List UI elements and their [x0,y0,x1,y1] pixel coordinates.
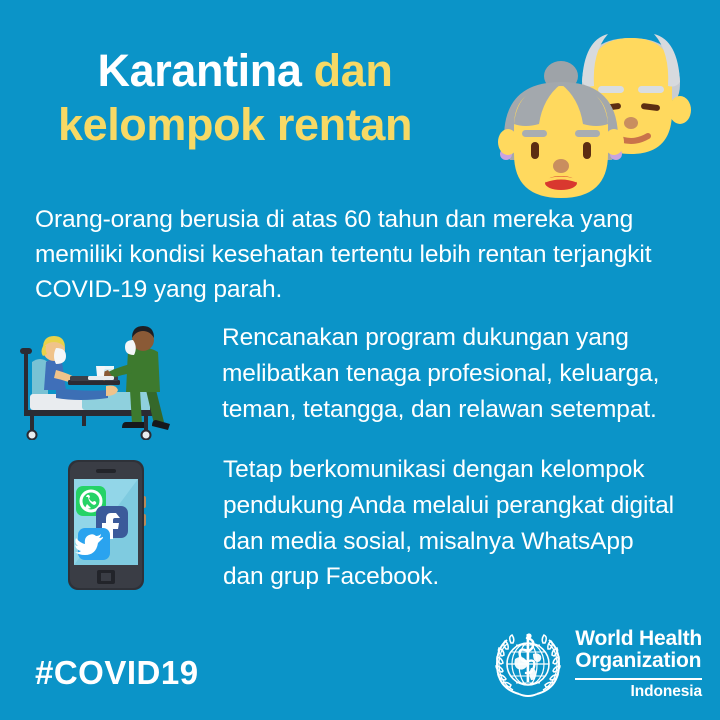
hospital-bed-svg [16,318,192,440]
who-logo: World Health Organization Indonesia [489,624,702,702]
title-word-karantina: Karantina [98,45,302,96]
hospital-bed-illustration [16,318,192,440]
poster-title: Karantina dan kelompok rentan [0,48,470,149]
older-couple-svg [486,26,714,198]
who-wordmark: World Health Organization Indonesia [575,624,702,701]
who-emblem-icon [489,624,567,702]
smartphone-illustration [48,456,168,594]
smartphone-svg [48,456,168,594]
who-divider [575,678,702,680]
title-line-1: Karantina dan [0,48,470,95]
twitter-icon [75,528,110,560]
who-emblem-svg [489,624,567,702]
tip-row-support-program: Rencanakan program dukungan yang melibat… [16,310,696,440]
intro-paragraph: Orang-orang berusia di atas 60 tahun dan… [35,203,695,307]
older-couple-illustration [486,26,714,198]
who-country-label: Indonesia [575,683,702,701]
who-name-line1: World Health [575,628,702,650]
tip-row-stay-connected: Tetap berkomunikasi dengan kelompok pend… [16,448,696,595]
title-word-dan: dan [314,45,393,96]
title-line-2: kelompok rentan [0,102,470,149]
infographic-poster: Karantina dan kelompok rentan [0,0,720,720]
hashtag-covid19: #COVID19 [35,654,199,692]
tip-text-stay-connected: Tetap berkomunikasi dengan kelompok pend… [223,448,678,595]
who-name-line2: Organization [575,650,702,672]
tip-text-support-program: Rencanakan program dukungan yang melibat… [222,310,672,427]
